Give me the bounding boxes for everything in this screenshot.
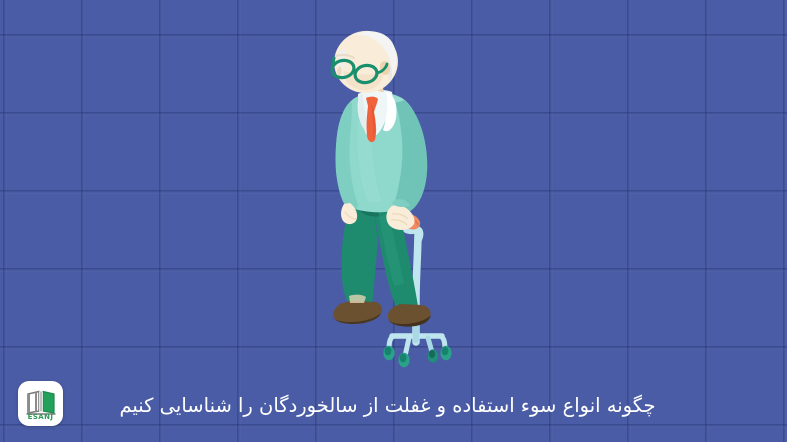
- caption-text: چگونه انواع سوء استفاده و غفلت از سالخور…: [0, 393, 787, 419]
- logo-wordmark: ESANJ: [18, 413, 63, 421]
- caption-bar: چگونه انواع سوء استفاده و غفلت از سالخور…: [0, 370, 787, 442]
- esanj-logo[interactable]: ESANJ: [18, 381, 63, 426]
- illustration-banner: چگونه انواع سوء استفاده و غفلت از سالخور…: [0, 0, 787, 442]
